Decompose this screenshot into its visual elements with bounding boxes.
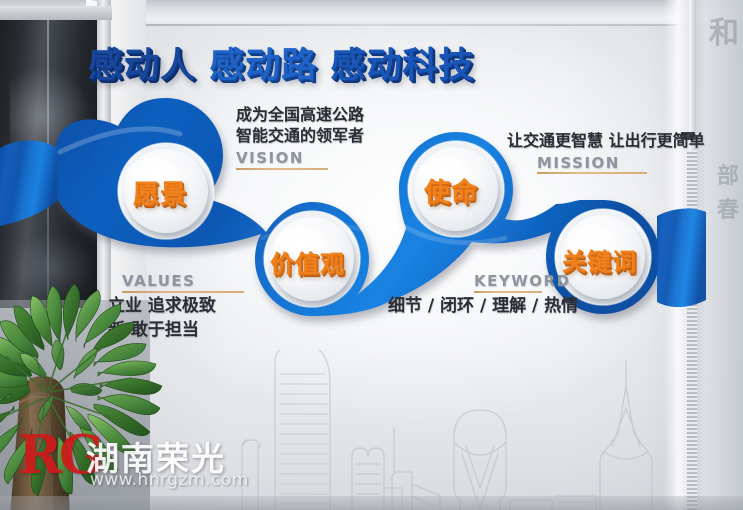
mission-text-block: 让交通更智慧 让出行更简单 MISSION [507,130,705,172]
vision-underline [236,168,328,170]
mission-label-en: MISSION [537,154,705,172]
vision-label-en: VISION [236,149,364,167]
watermark-url: www.hnrgzm.com [90,470,249,490]
keyword-label-en: KEYWORD [474,272,571,290]
mission-underline [537,172,647,174]
keyword-lines: 细节 / 闭环 / 理解 / 热情 [388,294,578,318]
node-label-keyword: 关键词 [562,242,637,277]
floor-edge [0,496,743,510]
vision-line-1: 成为全国高速公路 [236,104,364,125]
keyword-text-block: KEYWORD [474,272,571,290]
vision-line-2: 智能交通的领军者 [236,125,364,146]
mission-line-1: 让交通更智慧 让出行更简单 [507,130,705,151]
keyword-underline [474,291,542,293]
keyword-line-1: 细节 / 闭环 / 理解 / 热情 [388,294,578,318]
vision-text-block: 成为全国高速公路 智能交通的领军者 VISION [236,104,364,167]
node-label-mission: 使命 [424,172,478,209]
culture-wall-photo: 和 部 春 感动人 感动路 感动科技 [0,0,743,510]
watermark: RG 湖南荣光 www.hnrgzm.com [18,424,248,494]
node-label-values: 价值观 [270,244,345,279]
